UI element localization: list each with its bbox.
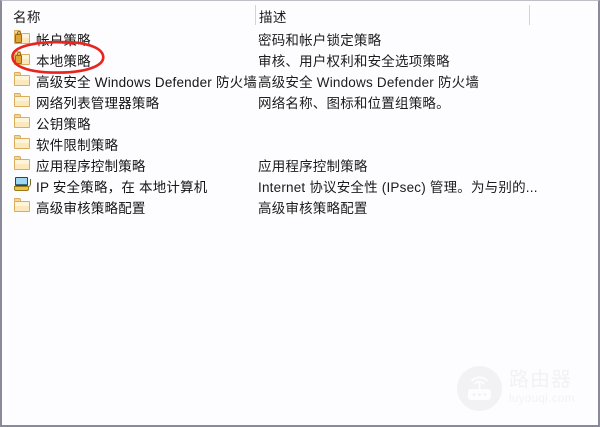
list-item-name: 本地策略 xyxy=(36,50,91,70)
row-icon-slot xyxy=(14,30,31,45)
list-item-description: Internet 协议安全性 (IPsec) 管理。为与别的... xyxy=(258,176,538,196)
list-item-name: 网络列表管理器策略 xyxy=(36,92,159,112)
list-item-name: 高级审核策略配置 xyxy=(36,197,146,217)
list-item-description: 应用程序控制策略 xyxy=(258,155,368,175)
list-item[interactable]: 高级安全 Windows Defender 防火墙 高级安全 Windows D… xyxy=(2,70,598,91)
row-icon-slot xyxy=(14,93,31,108)
list-item[interactable]: 高级审核策略配置 高级审核策略配置 xyxy=(2,196,598,217)
column-header-name[interactable]: 名称 xyxy=(13,6,41,26)
column-divider-description-end[interactable] xyxy=(529,5,530,25)
row-icon-slot xyxy=(14,51,31,66)
row-icon-slot xyxy=(14,114,31,129)
column-header-description[interactable]: 描述 xyxy=(259,6,287,26)
list-item-description: 网络名称、图标和位置组策略。 xyxy=(258,92,450,112)
folder-icon xyxy=(14,135,31,150)
folder-icon xyxy=(14,72,31,87)
list-item-description: 密码和帐户锁定策略 xyxy=(258,29,381,49)
folder-icon xyxy=(14,114,31,129)
folder-lock-icon xyxy=(14,30,31,45)
list-item[interactable]: IP 安全策略，在 本地计算机 Internet 协议安全性 (IPsec) 管… xyxy=(2,175,598,196)
router-icon xyxy=(457,366,502,411)
list-item-description: 审核、用户权利和安全选项策略 xyxy=(258,50,450,70)
list-item[interactable]: 公钥策略 xyxy=(2,112,598,133)
list-item-description: 高级安全 Windows Defender 防火墙 xyxy=(258,71,479,91)
watermark-subtitle: luyouqi.com xyxy=(509,394,575,406)
watermark-text: 路由器 luyouqi.com xyxy=(509,370,575,406)
list-item-description: 高级审核策略配置 xyxy=(258,197,368,217)
list-item-name: 帐户策略 xyxy=(36,29,91,49)
list-item[interactable]: 应用程序控制策略 应用程序控制策略 xyxy=(2,154,598,175)
row-icon-slot xyxy=(14,198,31,213)
computer-icon xyxy=(14,177,31,192)
column-divider-name-description[interactable] xyxy=(255,5,256,25)
list-column-header: 名称 描述 xyxy=(2,1,598,28)
list-item-name: IP 安全策略，在 本地计算机 xyxy=(36,176,208,196)
folder-icon xyxy=(14,198,31,213)
list-item-name: 应用程序控制策略 xyxy=(36,155,146,175)
list-item[interactable]: 本地策略 审核、用户权利和安全选项策略 xyxy=(2,49,598,70)
list-item[interactable]: 网络列表管理器策略 网络名称、图标和位置组策略。 xyxy=(2,91,598,112)
list-item-name: 公钥策略 xyxy=(36,113,91,133)
list-item[interactable]: 帐户策略 密码和帐户锁定策略 xyxy=(2,28,598,49)
row-icon-slot xyxy=(14,177,31,192)
list-item-name: 软件限制策略 xyxy=(36,134,118,154)
folder-icon xyxy=(14,93,31,108)
watermark-title: 路由器 xyxy=(509,370,575,390)
row-icon-slot xyxy=(14,156,31,171)
list-item[interactable]: 软件限制策略 xyxy=(2,133,598,154)
folder-lock-icon xyxy=(14,51,31,66)
row-icon-slot xyxy=(14,72,31,87)
folder-icon xyxy=(14,156,31,171)
security-policy-window: 名称 描述 帐户策略 密码和帐户锁定策略 本地策略 审 xyxy=(0,0,600,427)
row-icon-slot xyxy=(14,135,31,150)
list-item-name: 高级安全 Windows Defender 防火墙 xyxy=(36,71,257,91)
watermark: 路由器 luyouqi.com xyxy=(457,359,589,417)
